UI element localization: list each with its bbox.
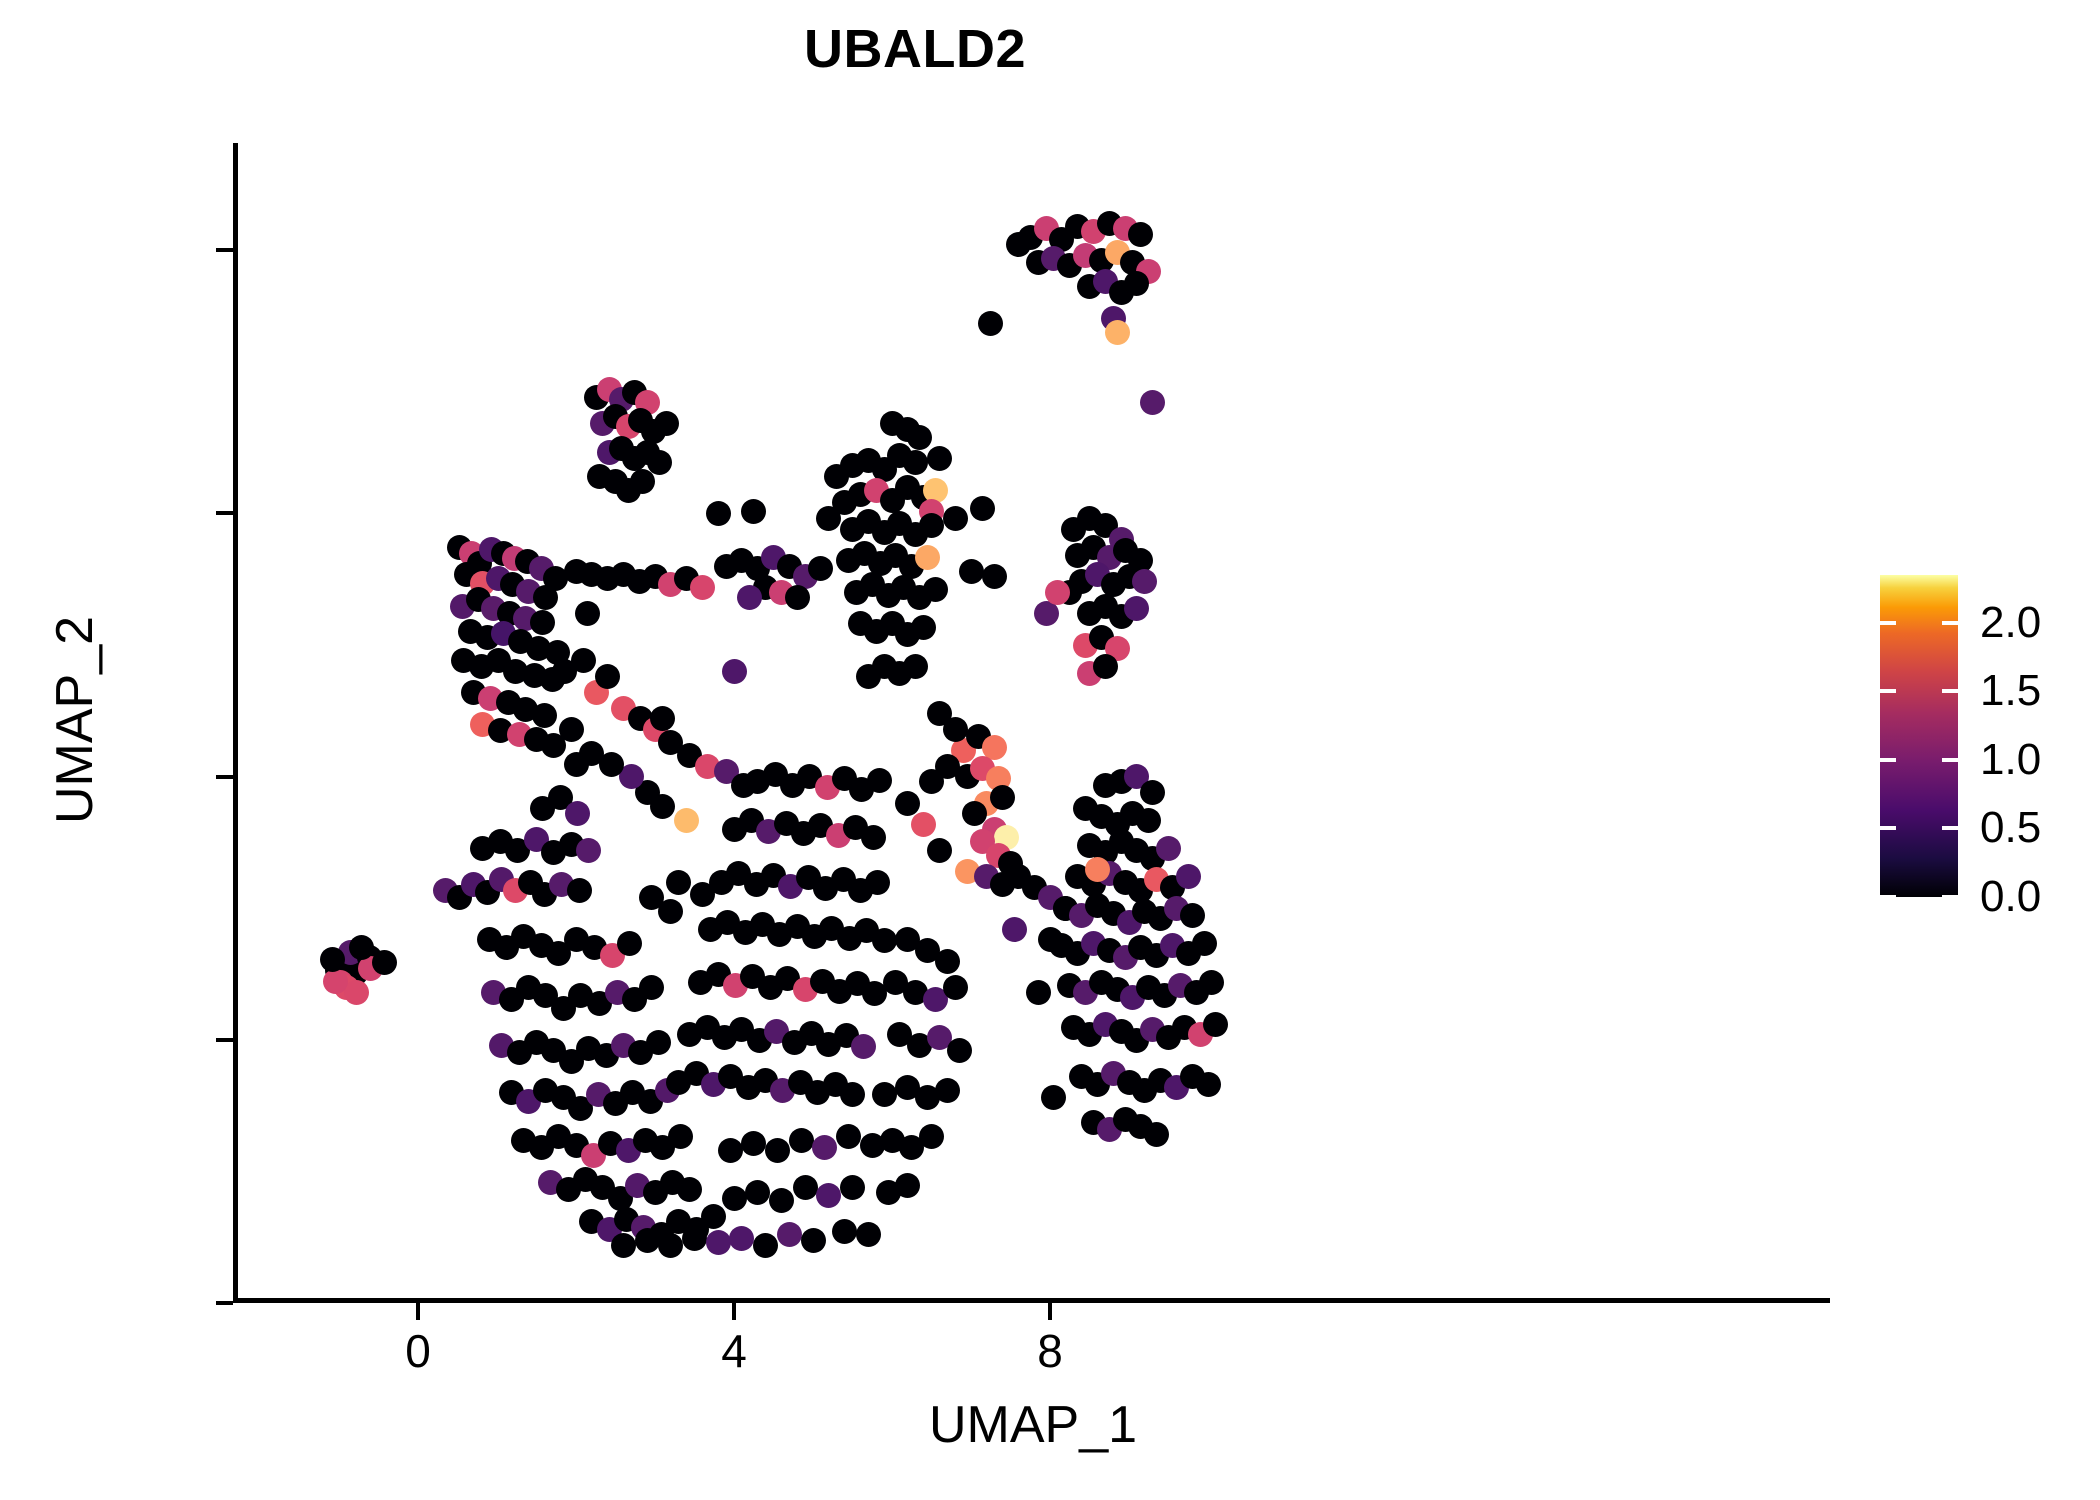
scatter-point (1196, 1072, 1221, 1097)
scatter-point (1140, 780, 1165, 805)
scatter-point (690, 575, 715, 600)
scatter-point (793, 1175, 818, 1200)
scatter-point (816, 506, 841, 531)
scatter-point (959, 559, 984, 584)
scatter-point (741, 499, 766, 524)
scatter-point (701, 1204, 726, 1229)
scatter-point (741, 1131, 766, 1156)
legend-tick-mark (1880, 758, 1896, 762)
scatter-point (745, 1180, 770, 1205)
x-tick-mark (732, 1303, 736, 1320)
legend-tick-mark (1880, 895, 1896, 899)
y-axis-title: UMAP_2 (45, 420, 105, 1020)
y-axis-line (233, 143, 238, 1303)
y-tick-mark (216, 511, 233, 515)
scatter-point (559, 717, 584, 742)
scatter-point (650, 794, 675, 819)
scatter-point (927, 446, 952, 471)
y-tick-mark (216, 775, 233, 779)
scatter-point (990, 785, 1015, 810)
x-tick-mark (416, 1303, 420, 1320)
scatter-point (895, 791, 920, 816)
color-legend: 0.00.51.01.52.0 (1880, 575, 2080, 905)
legend-tick-mark (1942, 621, 1958, 625)
x-tick-mark (1048, 1303, 1052, 1320)
scatter-point (595, 664, 620, 689)
scatter-point (935, 949, 960, 974)
plot-panel (236, 143, 1830, 1300)
page-title: UBALD2 (0, 18, 1830, 80)
legend-tick-mark (1880, 621, 1896, 625)
scatter-point (851, 1034, 876, 1059)
scatter-point (576, 838, 601, 863)
scatter-point (532, 703, 557, 728)
legend-tick-mark (1942, 689, 1958, 693)
scatter-point (1180, 903, 1205, 928)
legend-tick-mark (1942, 758, 1958, 762)
scatter-point (978, 311, 1003, 336)
scatter-point (867, 768, 892, 793)
scatter-point (919, 1124, 944, 1149)
scatter-point (729, 1226, 754, 1251)
scatter-point (816, 1183, 841, 1208)
legend-tick-label: 1.0 (1980, 735, 2041, 785)
y-tick-mark (216, 1301, 233, 1305)
scatter-point (753, 1233, 778, 1258)
scatter-point (323, 969, 348, 994)
scatter-point (880, 411, 905, 436)
scatter-point (970, 496, 995, 521)
scatter-point (682, 1226, 707, 1251)
scatter-point (919, 513, 944, 538)
scatter-point (650, 706, 675, 731)
scatter-point (565, 801, 590, 826)
scatter-point (777, 1222, 802, 1247)
y-tick-mark (216, 1038, 233, 1042)
scatter-point (840, 1175, 865, 1200)
x-tick-label: 0 (338, 1324, 498, 1378)
scatter-point (564, 752, 589, 777)
scatter-point (907, 425, 932, 450)
scatter-point (372, 950, 397, 975)
y-tick-mark (216, 248, 233, 252)
scatter-point (1002, 917, 1027, 942)
scatter-point (1006, 232, 1031, 257)
scatter-point (982, 564, 1007, 589)
scatter-point (947, 1038, 972, 1063)
scatter-point (832, 1219, 857, 1244)
scatter-point (915, 545, 940, 570)
scatter-point (812, 1135, 837, 1160)
scatter-point (861, 825, 886, 850)
scatter-point (677, 1177, 702, 1202)
scatter-point (808, 556, 833, 581)
scatter-point (617, 931, 642, 956)
legend-tick-mark (1942, 826, 1958, 830)
scatter-point (769, 1188, 794, 1213)
scatter-point (646, 1030, 671, 1055)
scatter-point (923, 577, 948, 602)
scatter-point (865, 870, 890, 895)
scatter-point (654, 411, 679, 436)
scatter-point (1192, 931, 1217, 956)
scatter-point (1156, 836, 1181, 861)
x-tick-label: 8 (970, 1324, 1130, 1378)
scatter-point (919, 769, 944, 794)
scatter-point (587, 464, 612, 489)
legend-tick-label: 2.0 (1980, 598, 2041, 648)
scatter-point (1105, 320, 1130, 345)
x-tick-label: 4 (654, 1324, 814, 1378)
scatter-point (737, 585, 762, 610)
scatter-point (927, 701, 952, 726)
scatter-point (658, 1233, 683, 1258)
scatter-point (1144, 1122, 1169, 1147)
scatter-point (911, 615, 936, 640)
x-axis-line (233, 1298, 1830, 1303)
legend-tick-mark (1880, 826, 1896, 830)
scatter-point (575, 601, 600, 626)
scatter-point (895, 1173, 920, 1198)
scatter-point (860, 1133, 885, 1158)
scatter-point (856, 664, 881, 689)
scatter-point (1199, 970, 1224, 995)
scatter-point (903, 654, 928, 679)
scatter-point (872, 928, 897, 953)
scatter-point (903, 450, 928, 475)
scatter-point (1093, 654, 1118, 679)
legend-tick-label: 0.0 (1980, 872, 2041, 922)
scatter-point (872, 1082, 897, 1107)
scatter-point (666, 870, 691, 895)
scatter-point (639, 975, 664, 1000)
scatter-point (765, 1138, 790, 1163)
scatter-point (530, 610, 555, 635)
x-axis-title: UMAP_1 (236, 1395, 1830, 1455)
scatter-point (789, 1128, 814, 1153)
scatter-point (927, 838, 952, 863)
scatter-point (1093, 773, 1118, 798)
scatter-point (935, 1078, 960, 1103)
scatter-point (836, 1124, 861, 1149)
scatter-point (785, 585, 810, 610)
scatter-point (1140, 390, 1165, 415)
scatter-point (611, 1233, 636, 1258)
scatter-point (1128, 222, 1153, 247)
scatter-point (1132, 569, 1157, 594)
scatter-point (856, 1222, 881, 1247)
scatter-point (840, 1082, 865, 1107)
scatter-point (1203, 1012, 1228, 1037)
scatter-point (674, 808, 699, 833)
scatter-point (911, 812, 936, 837)
legend-tick-mark (1880, 689, 1896, 693)
scatter-point (1124, 596, 1149, 621)
scatter-point (630, 469, 655, 494)
scatter-point (801, 1228, 826, 1253)
legend-tick-label: 1.5 (1980, 666, 2041, 716)
scatter-point (635, 1228, 660, 1253)
scatter-point (706, 1230, 731, 1255)
scatter-point (1026, 980, 1051, 1005)
scatter-point (943, 975, 968, 1000)
legend-tick-mark (1942, 895, 1958, 899)
scatter-point (658, 899, 683, 924)
scatter-point (943, 506, 968, 531)
scatter-point (1136, 808, 1161, 833)
scatter-point (706, 501, 731, 526)
scatter-point (1124, 271, 1149, 296)
scatter-point (567, 878, 592, 903)
scatter-point (668, 1124, 693, 1149)
scatter-point (722, 659, 747, 684)
scatter-point (690, 882, 715, 907)
scatter-point (718, 1138, 743, 1163)
scatter-point (1176, 864, 1201, 889)
legend-tick-label: 0.5 (1980, 803, 2041, 853)
umap-feature-plot: UBALD2 -2.50.02.55.07.5048 UMAP_1 UMAP_2… (0, 0, 2100, 1500)
scatter-point (722, 1186, 747, 1211)
scatter-point (533, 585, 558, 610)
scatter-point (1041, 1085, 1066, 1110)
scatter-point (571, 648, 596, 673)
scatter-point (1085, 857, 1110, 882)
scatter-point (344, 980, 369, 1005)
